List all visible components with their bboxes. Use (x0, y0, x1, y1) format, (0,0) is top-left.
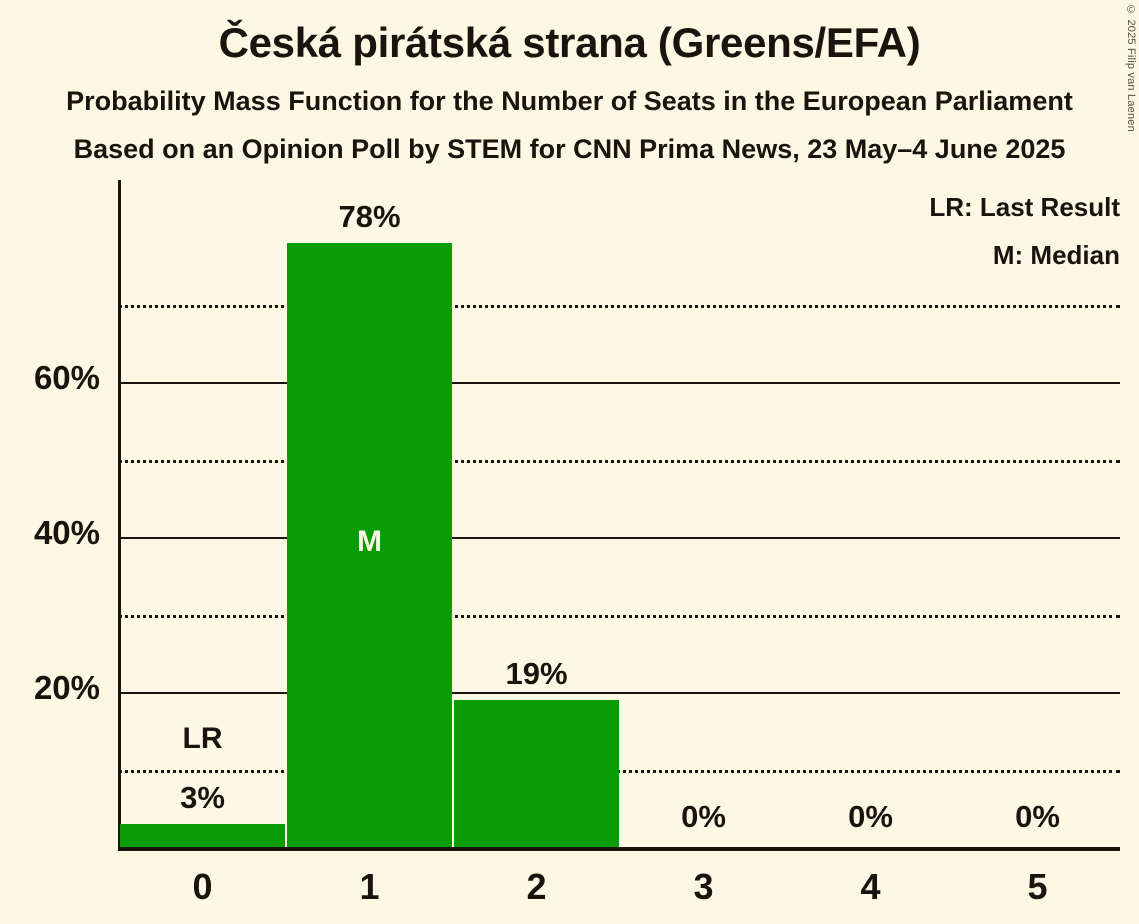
y-tick-label: 60% (0, 359, 100, 397)
gridline-20 (118, 692, 1120, 694)
bar[interactable] (454, 700, 619, 847)
page-title: Česká pirátská strana (Greens/EFA) (0, 22, 1139, 64)
y-tick-label: 40% (0, 514, 100, 552)
y-tick-label: 20% (0, 669, 100, 707)
gridline-50 (118, 460, 1120, 463)
gridline-60 (118, 382, 1120, 384)
pmf-chart: Česká pirátská strana (Greens/EFA) Proba… (0, 0, 1139, 924)
gridline-10 (118, 770, 1120, 773)
x-tick-label: 4 (788, 866, 953, 908)
chart-source: Based on an Opinion Poll by STEM for CNN… (0, 136, 1139, 163)
last-result-marker: LR (120, 722, 285, 756)
x-tick-label: 5 (955, 866, 1120, 908)
gridline-30 (118, 615, 1120, 618)
gridline-40 (118, 537, 1120, 539)
x-tick-label: 2 (454, 866, 619, 908)
x-axis-line (118, 847, 1120, 851)
bar-value-label: 0% (955, 799, 1120, 835)
median-marker: M (287, 525, 452, 559)
bar-value-label: 78% (287, 199, 452, 235)
x-tick-label: 3 (621, 866, 786, 908)
bar-value-label: 19% (454, 656, 619, 692)
bar-value-label: 3% (120, 780, 285, 816)
bar-value-label: 0% (788, 799, 953, 835)
gridline-70 (118, 305, 1120, 308)
bar-value-label: 0% (621, 799, 786, 835)
bar[interactable]: M (287, 243, 452, 848)
x-tick-label: 0 (120, 866, 285, 908)
chart-subtitle: Probability Mass Function for the Number… (0, 88, 1139, 115)
copyright-notice: © 2025 Filip van Laenen (1125, 4, 1137, 132)
x-tick-label: 1 (287, 866, 452, 908)
bar[interactable] (120, 824, 285, 847)
